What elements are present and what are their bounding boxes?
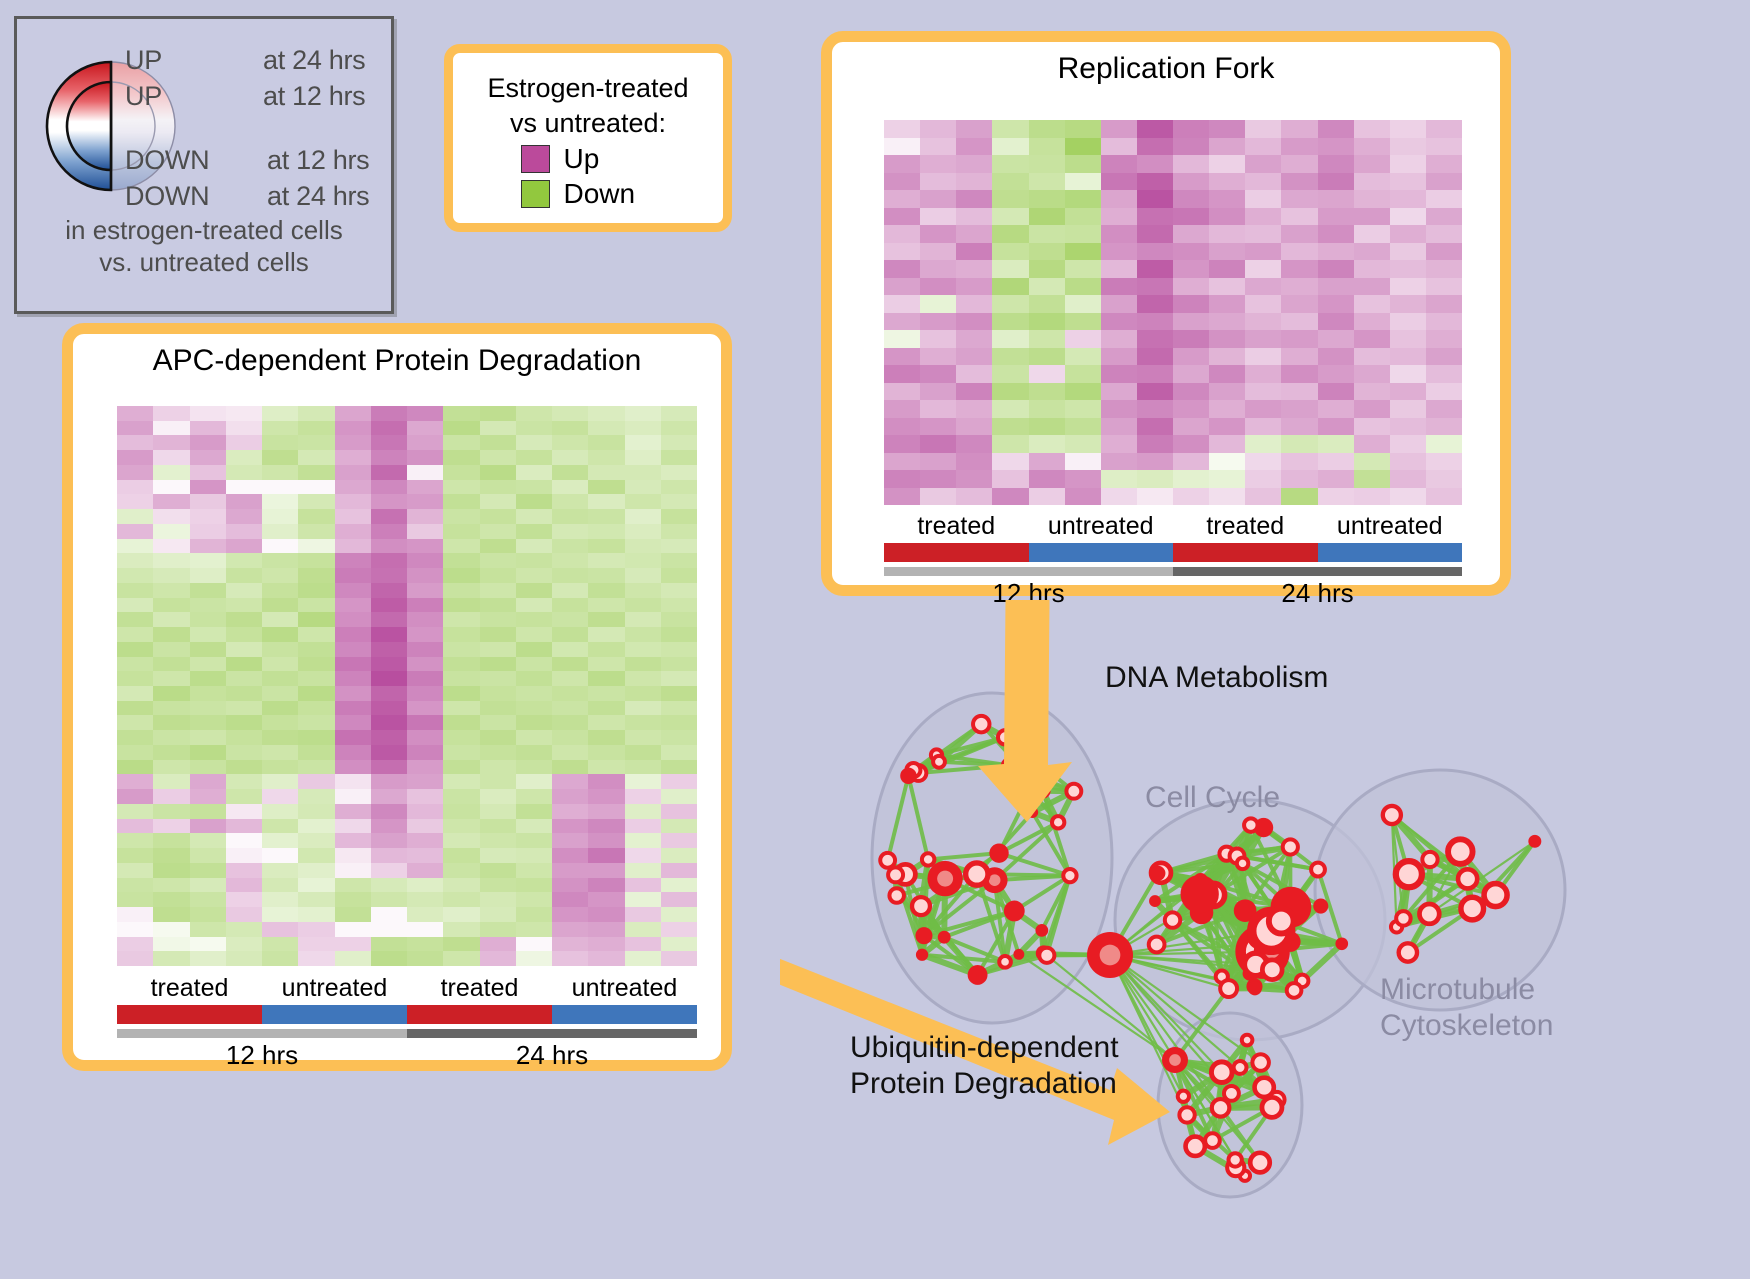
heatmap-cell	[1065, 138, 1101, 156]
heatmap-cell	[298, 450, 334, 465]
heatmap-cell	[298, 583, 334, 598]
heatmap-cell	[262, 612, 298, 627]
heatmap-cell	[1137, 313, 1173, 331]
heatmap-cell	[625, 789, 661, 804]
heatmap-cell	[625, 612, 661, 627]
heatmap-cell	[992, 330, 1028, 348]
time-colour-bar	[117, 1029, 697, 1038]
heatmap-cell	[516, 671, 552, 686]
heatmap-cell	[516, 421, 552, 436]
heatmap-cell	[1137, 120, 1173, 138]
heatmap-cell	[226, 804, 262, 819]
cluster-label-cell-cycle: Cell Cycle	[1145, 780, 1280, 816]
heatmap-cell	[992, 418, 1028, 436]
heatmap-cell	[1318, 348, 1354, 366]
heatmap-cell	[371, 937, 407, 952]
heatmap-cell	[262, 789, 298, 804]
heatmap-cell	[190, 878, 226, 893]
heatmap-cell	[1245, 418, 1281, 436]
heatmap-cell	[226, 627, 262, 642]
heatmap-cell	[956, 243, 992, 261]
heatmap-cell	[1137, 138, 1173, 156]
heatmap-cell	[1173, 243, 1209, 261]
heatmap-cell	[956, 120, 992, 138]
heatmap-cell	[552, 627, 588, 642]
heatmap-cell	[190, 494, 226, 509]
heatmap-cell	[335, 421, 371, 436]
heatmap-cell	[443, 553, 479, 568]
heatmap-cell	[407, 553, 443, 568]
heatmap-cell	[625, 892, 661, 907]
heatmap-cell	[262, 937, 298, 952]
heatmap-cell	[480, 701, 516, 716]
up-label: Up	[564, 143, 656, 175]
heatmap-cell	[661, 465, 697, 480]
heatmap-cell	[1209, 243, 1245, 261]
heatmap-cell	[552, 671, 588, 686]
heatmap-cell	[262, 421, 298, 436]
heatmap-cell	[371, 406, 407, 421]
heatmap-cell	[480, 848, 516, 863]
heatmap-cell	[625, 553, 661, 568]
heatmap-cell	[262, 701, 298, 716]
heatmap-cell	[407, 627, 443, 642]
heatmap-cell	[1029, 348, 1065, 366]
heatmap-cell	[371, 701, 407, 716]
network-node	[912, 897, 930, 915]
heatmap-cell	[407, 819, 443, 834]
heatmap-cell	[190, 627, 226, 642]
heatmap-cell	[1029, 225, 1065, 243]
heatmap-cell	[661, 789, 697, 804]
heatmap-cell	[661, 671, 697, 686]
time-bar-segment	[117, 1029, 407, 1038]
heatmap-cell	[190, 583, 226, 598]
heatmap-cell	[443, 612, 479, 627]
heatmap-cell	[226, 524, 262, 539]
heatmap-cell	[1390, 295, 1426, 313]
network-node	[1186, 1137, 1205, 1156]
heatmap-cell	[1390, 365, 1426, 383]
heatmap-cell	[443, 745, 479, 760]
heatmap-cell	[335, 450, 371, 465]
network-node	[1262, 1097, 1282, 1117]
heatmap-cell	[371, 922, 407, 937]
heatmap-cell	[117, 819, 153, 834]
heatmap-cell	[552, 789, 588, 804]
heatmap-cell	[1354, 383, 1390, 401]
heatmap-cell	[153, 715, 189, 730]
heatmap-cell	[1065, 435, 1101, 453]
heatmap-cell	[1318, 435, 1354, 453]
heatmap-cell	[588, 421, 624, 436]
heatmap-cell	[226, 494, 262, 509]
heatmap-cell	[407, 833, 443, 848]
heatmap-cell	[956, 418, 992, 436]
heatmap-cell	[661, 406, 697, 421]
heatmap-cell	[153, 760, 189, 775]
heatmap-cell	[1065, 383, 1101, 401]
heatmap-cell	[480, 657, 516, 672]
heatmap-cell	[407, 760, 443, 775]
heatmap-cell	[190, 730, 226, 745]
heatmap-cell	[588, 598, 624, 613]
heatmap-cell	[443, 435, 479, 450]
heatmap-cell	[190, 465, 226, 480]
heatmap-cell	[117, 760, 153, 775]
heatmap-cell	[552, 907, 588, 922]
heatmap-cell	[552, 922, 588, 937]
network-node	[922, 853, 934, 865]
heatmap-cell	[1101, 348, 1137, 366]
heatmap-cell	[992, 138, 1028, 156]
heatmap-cell	[1390, 190, 1426, 208]
replication-fork-title: Replication Fork	[832, 42, 1500, 86]
heatmap-cell	[1137, 488, 1173, 506]
heatmap-cell	[480, 789, 516, 804]
heatmap-cell	[298, 553, 334, 568]
heatmap-cell	[443, 907, 479, 922]
heatmap-cell	[298, 745, 334, 760]
heatmap-cell	[298, 833, 334, 848]
heatmap-cell	[1029, 138, 1065, 156]
heatmap-cell	[625, 598, 661, 613]
heatmap-cell	[625, 774, 661, 789]
heatmap-cell	[335, 435, 371, 450]
heatmap-cell	[153, 922, 189, 937]
down-swatch-icon	[521, 180, 550, 208]
heatmap-cell	[625, 819, 661, 834]
heatmap-cell	[625, 863, 661, 878]
heatmap-cell	[516, 568, 552, 583]
heatmap-cell	[1137, 365, 1173, 383]
heatmap-cell	[1426, 120, 1462, 138]
heatmap-cell	[625, 509, 661, 524]
heatmap-cell	[516, 435, 552, 450]
heatmap-cell	[625, 627, 661, 642]
heatmap-cell	[335, 509, 371, 524]
heatmap-cell	[262, 598, 298, 613]
heatmap-cell	[1281, 348, 1317, 366]
heatmap-cell	[190, 612, 226, 627]
heatmap-cell	[335, 774, 371, 789]
heatmap-cell	[661, 715, 697, 730]
heatmap-cell	[956, 488, 992, 506]
heatmap-cell	[262, 465, 298, 480]
heatmap-cell	[480, 745, 516, 760]
heatmap-cell	[262, 774, 298, 789]
heatmap-cell	[480, 583, 516, 598]
heatmap-cell	[1137, 330, 1173, 348]
heatmap-cell	[588, 774, 624, 789]
heatmap-cell	[1354, 225, 1390, 243]
heatmap-cell	[1281, 470, 1317, 488]
heatmap-cell	[1354, 120, 1390, 138]
network-node	[1244, 818, 1258, 832]
heatmap-cell	[516, 465, 552, 480]
heatmap-cell	[588, 583, 624, 598]
heatmap-cell	[480, 760, 516, 775]
heatmap-cell	[625, 907, 661, 922]
heatmap-cell	[1354, 418, 1390, 436]
heatmap-cell	[262, 833, 298, 848]
heatmap-cell	[920, 348, 956, 366]
heatmap-cell	[117, 922, 153, 937]
heatmap-cell	[226, 833, 262, 848]
heatmap-cell	[443, 494, 479, 509]
heatmap-cell	[956, 295, 992, 313]
heatmap-cell	[552, 421, 588, 436]
heatmap-cell	[992, 208, 1028, 226]
heatmap-cell	[298, 937, 334, 952]
heatmap-cell	[1281, 488, 1317, 506]
time-labels: 12 hrs24 hrs	[117, 1040, 697, 1071]
heatmap-cell	[1281, 383, 1317, 401]
heatmap-cell	[516, 612, 552, 627]
heatmap-cell	[153, 421, 189, 436]
heatmap-cell	[1390, 383, 1426, 401]
heatmap-cell	[956, 330, 992, 348]
heatmap-cell	[661, 701, 697, 716]
heatmap-cell	[1065, 470, 1101, 488]
heatmap-cell	[516, 863, 552, 878]
heatmap-cell	[516, 494, 552, 509]
heatmap-cell	[335, 671, 371, 686]
heatmap-cell	[661, 627, 697, 642]
heatmap-cell	[588, 951, 624, 966]
heatmap-cell	[262, 892, 298, 907]
heatmap-cell	[190, 833, 226, 848]
heatmap-cell	[443, 863, 479, 878]
heatmap-cell	[262, 435, 298, 450]
heatmap-cell	[1245, 400, 1281, 418]
heatmap-cell	[920, 470, 956, 488]
heatmap-cell	[1029, 488, 1065, 506]
colour-wheel-legend: UP UP DOWN DOWN at 24 hrs at 12 hrs at 1…	[14, 16, 394, 314]
heatmap-cell	[335, 951, 371, 966]
heatmap-cell	[335, 892, 371, 907]
heatmap-cell	[1101, 260, 1137, 278]
heatmap-cell	[153, 539, 189, 554]
heatmap-cell	[117, 583, 153, 598]
heatmap-cell	[117, 863, 153, 878]
heatmap-cell	[407, 435, 443, 450]
heatmap-cell	[262, 863, 298, 878]
heatmap-cell	[335, 878, 371, 893]
heatmap-cell	[992, 470, 1028, 488]
heatmap-cell	[1029, 400, 1065, 418]
heatmap-cell	[516, 833, 552, 848]
heatmap-cell	[552, 715, 588, 730]
heatmap-cell	[371, 421, 407, 436]
heatmap-cell	[552, 937, 588, 952]
heatmap-cell	[1281, 313, 1317, 331]
heatmap-cell	[956, 260, 992, 278]
heatmap-cell	[588, 509, 624, 524]
condition-label: untreated	[1318, 512, 1463, 541]
heatmap-cell	[661, 774, 697, 789]
network-node	[1311, 863, 1325, 877]
heatmap-cell	[1137, 190, 1173, 208]
heatmap-cell	[298, 715, 334, 730]
heatmap-cell	[153, 524, 189, 539]
heatmap-cell	[956, 225, 992, 243]
condition-labels: treateduntreatedtreateduntreated	[117, 974, 697, 1003]
heatmap-cell	[588, 730, 624, 745]
heatmap-cell	[1209, 365, 1245, 383]
heatmap-cell	[1029, 418, 1065, 436]
heatmap-cell	[1281, 120, 1317, 138]
heatmap-cell	[117, 435, 153, 450]
heatmap-cell	[920, 243, 956, 261]
heatmap-cell	[661, 686, 697, 701]
heatmap-cell	[661, 494, 697, 509]
heatmap-cell	[153, 642, 189, 657]
heatmap-cell	[884, 225, 920, 243]
heatmap-cell	[480, 612, 516, 627]
heatmap-cell	[407, 937, 443, 952]
wheel-time-2: at 12 hrs	[267, 145, 369, 176]
heatmap-cell	[992, 453, 1028, 471]
heatmap-cell	[480, 878, 516, 893]
network-node	[1287, 983, 1302, 998]
heatmap-cell	[956, 435, 992, 453]
time-bar-segment	[1173, 567, 1462, 576]
heatmap-cell	[153, 627, 189, 642]
heatmap-cell	[552, 509, 588, 524]
estrogen-updown-legend: Estrogen-treated vs untreated: Up Down	[444, 44, 732, 232]
condition-label: treated	[884, 512, 1029, 541]
heatmap-cell	[1065, 348, 1101, 366]
heatmap-cell	[1390, 225, 1426, 243]
heatmap-cell	[117, 568, 153, 583]
heatmap-cell	[117, 509, 153, 524]
network-node	[1335, 937, 1348, 950]
heatmap-cell	[552, 863, 588, 878]
heatmap-cell	[153, 819, 189, 834]
heatmap-cell	[371, 657, 407, 672]
network-node	[938, 931, 951, 944]
heatmap-cell	[552, 833, 588, 848]
heatmap-cell	[992, 225, 1028, 243]
heatmap-cell	[1281, 278, 1317, 296]
heatmap-cell	[1390, 418, 1426, 436]
heatmap-cell	[1173, 488, 1209, 506]
heatmap-cell	[1245, 470, 1281, 488]
heatmap-cell	[371, 598, 407, 613]
heatmap-cell	[1137, 470, 1173, 488]
heatmap-cell	[588, 760, 624, 775]
heatmap-cell	[262, 671, 298, 686]
heatmap-cell	[407, 465, 443, 480]
heatmap-cell	[516, 774, 552, 789]
network-node-core	[937, 871, 953, 887]
heatmap-cell	[298, 760, 334, 775]
heatmap-cell	[1029, 190, 1065, 208]
heatmap-cell	[661, 421, 697, 436]
heatmap-cell	[298, 922, 334, 937]
wheel-footer-line1: in estrogen-treated cells	[17, 215, 391, 247]
heatmap-cell	[443, 686, 479, 701]
heatmap-cell	[443, 480, 479, 495]
heatmap-cell	[226, 421, 262, 436]
heatmap-cell	[1101, 453, 1137, 471]
heatmap-cell	[226, 465, 262, 480]
heatmap-cell	[262, 878, 298, 893]
heatmap-cell	[516, 583, 552, 598]
heatmap-cell	[153, 789, 189, 804]
heatmap-cell	[884, 453, 920, 471]
heatmap-cell	[992, 295, 1028, 313]
heatmap-cell	[552, 878, 588, 893]
heatmap-cell	[480, 804, 516, 819]
heatmap-cell	[661, 745, 697, 760]
heatmap-cell	[625, 848, 661, 863]
heatmap-cell	[335, 760, 371, 775]
heatmap-cell	[1318, 173, 1354, 191]
heatmap-cell	[625, 804, 661, 819]
heatmap-cell	[516, 819, 552, 834]
heatmap-cell	[226, 612, 262, 627]
heatmap-cell	[117, 421, 153, 436]
heatmap-cell	[443, 465, 479, 480]
heatmap-cell	[1065, 453, 1101, 471]
heatmap-cell	[1209, 435, 1245, 453]
heatmap-cell	[480, 480, 516, 495]
heatmap-cell	[884, 260, 920, 278]
heatmap-cell	[588, 804, 624, 819]
heatmap-cell	[661, 583, 697, 598]
heatmap-cell	[552, 774, 588, 789]
heatmap-cell	[153, 480, 189, 495]
heatmap-cell	[625, 745, 661, 760]
heatmap-cell	[1354, 365, 1390, 383]
heatmap-cell	[298, 421, 334, 436]
heatmap-cell	[661, 804, 697, 819]
network-node	[1150, 866, 1165, 881]
heatmap-cell	[262, 819, 298, 834]
heatmap-cell	[920, 208, 956, 226]
heatmap-cell	[262, 922, 298, 937]
heatmap-cell	[625, 937, 661, 952]
heatmap-cell	[298, 435, 334, 450]
heatmap-cell	[480, 833, 516, 848]
heatmap-cell	[1426, 453, 1462, 471]
heatmap-cell	[480, 494, 516, 509]
heatmap-cell	[443, 642, 479, 657]
heatmap-cell	[371, 715, 407, 730]
heatmap-cell	[407, 863, 443, 878]
heatmap-cell	[552, 804, 588, 819]
heatmap-cell	[516, 509, 552, 524]
heatmap-cell	[552, 524, 588, 539]
time-colour-bar	[884, 567, 1462, 576]
heatmap-cell	[956, 400, 992, 418]
heatmap-cell	[262, 657, 298, 672]
network-node	[1484, 884, 1507, 907]
heatmap-cell	[1029, 330, 1065, 348]
heatmap-cell	[335, 539, 371, 554]
network-node	[989, 843, 1008, 862]
heatmap-cell	[371, 774, 407, 789]
condition-bar-segment	[262, 1005, 407, 1024]
heatmap-cell	[407, 804, 443, 819]
heatmap-cell	[443, 937, 479, 952]
heatmap-cell	[1209, 488, 1245, 506]
network-node	[1396, 861, 1422, 887]
heatmap-cell	[1354, 488, 1390, 506]
heatmap-cell	[920, 190, 956, 208]
